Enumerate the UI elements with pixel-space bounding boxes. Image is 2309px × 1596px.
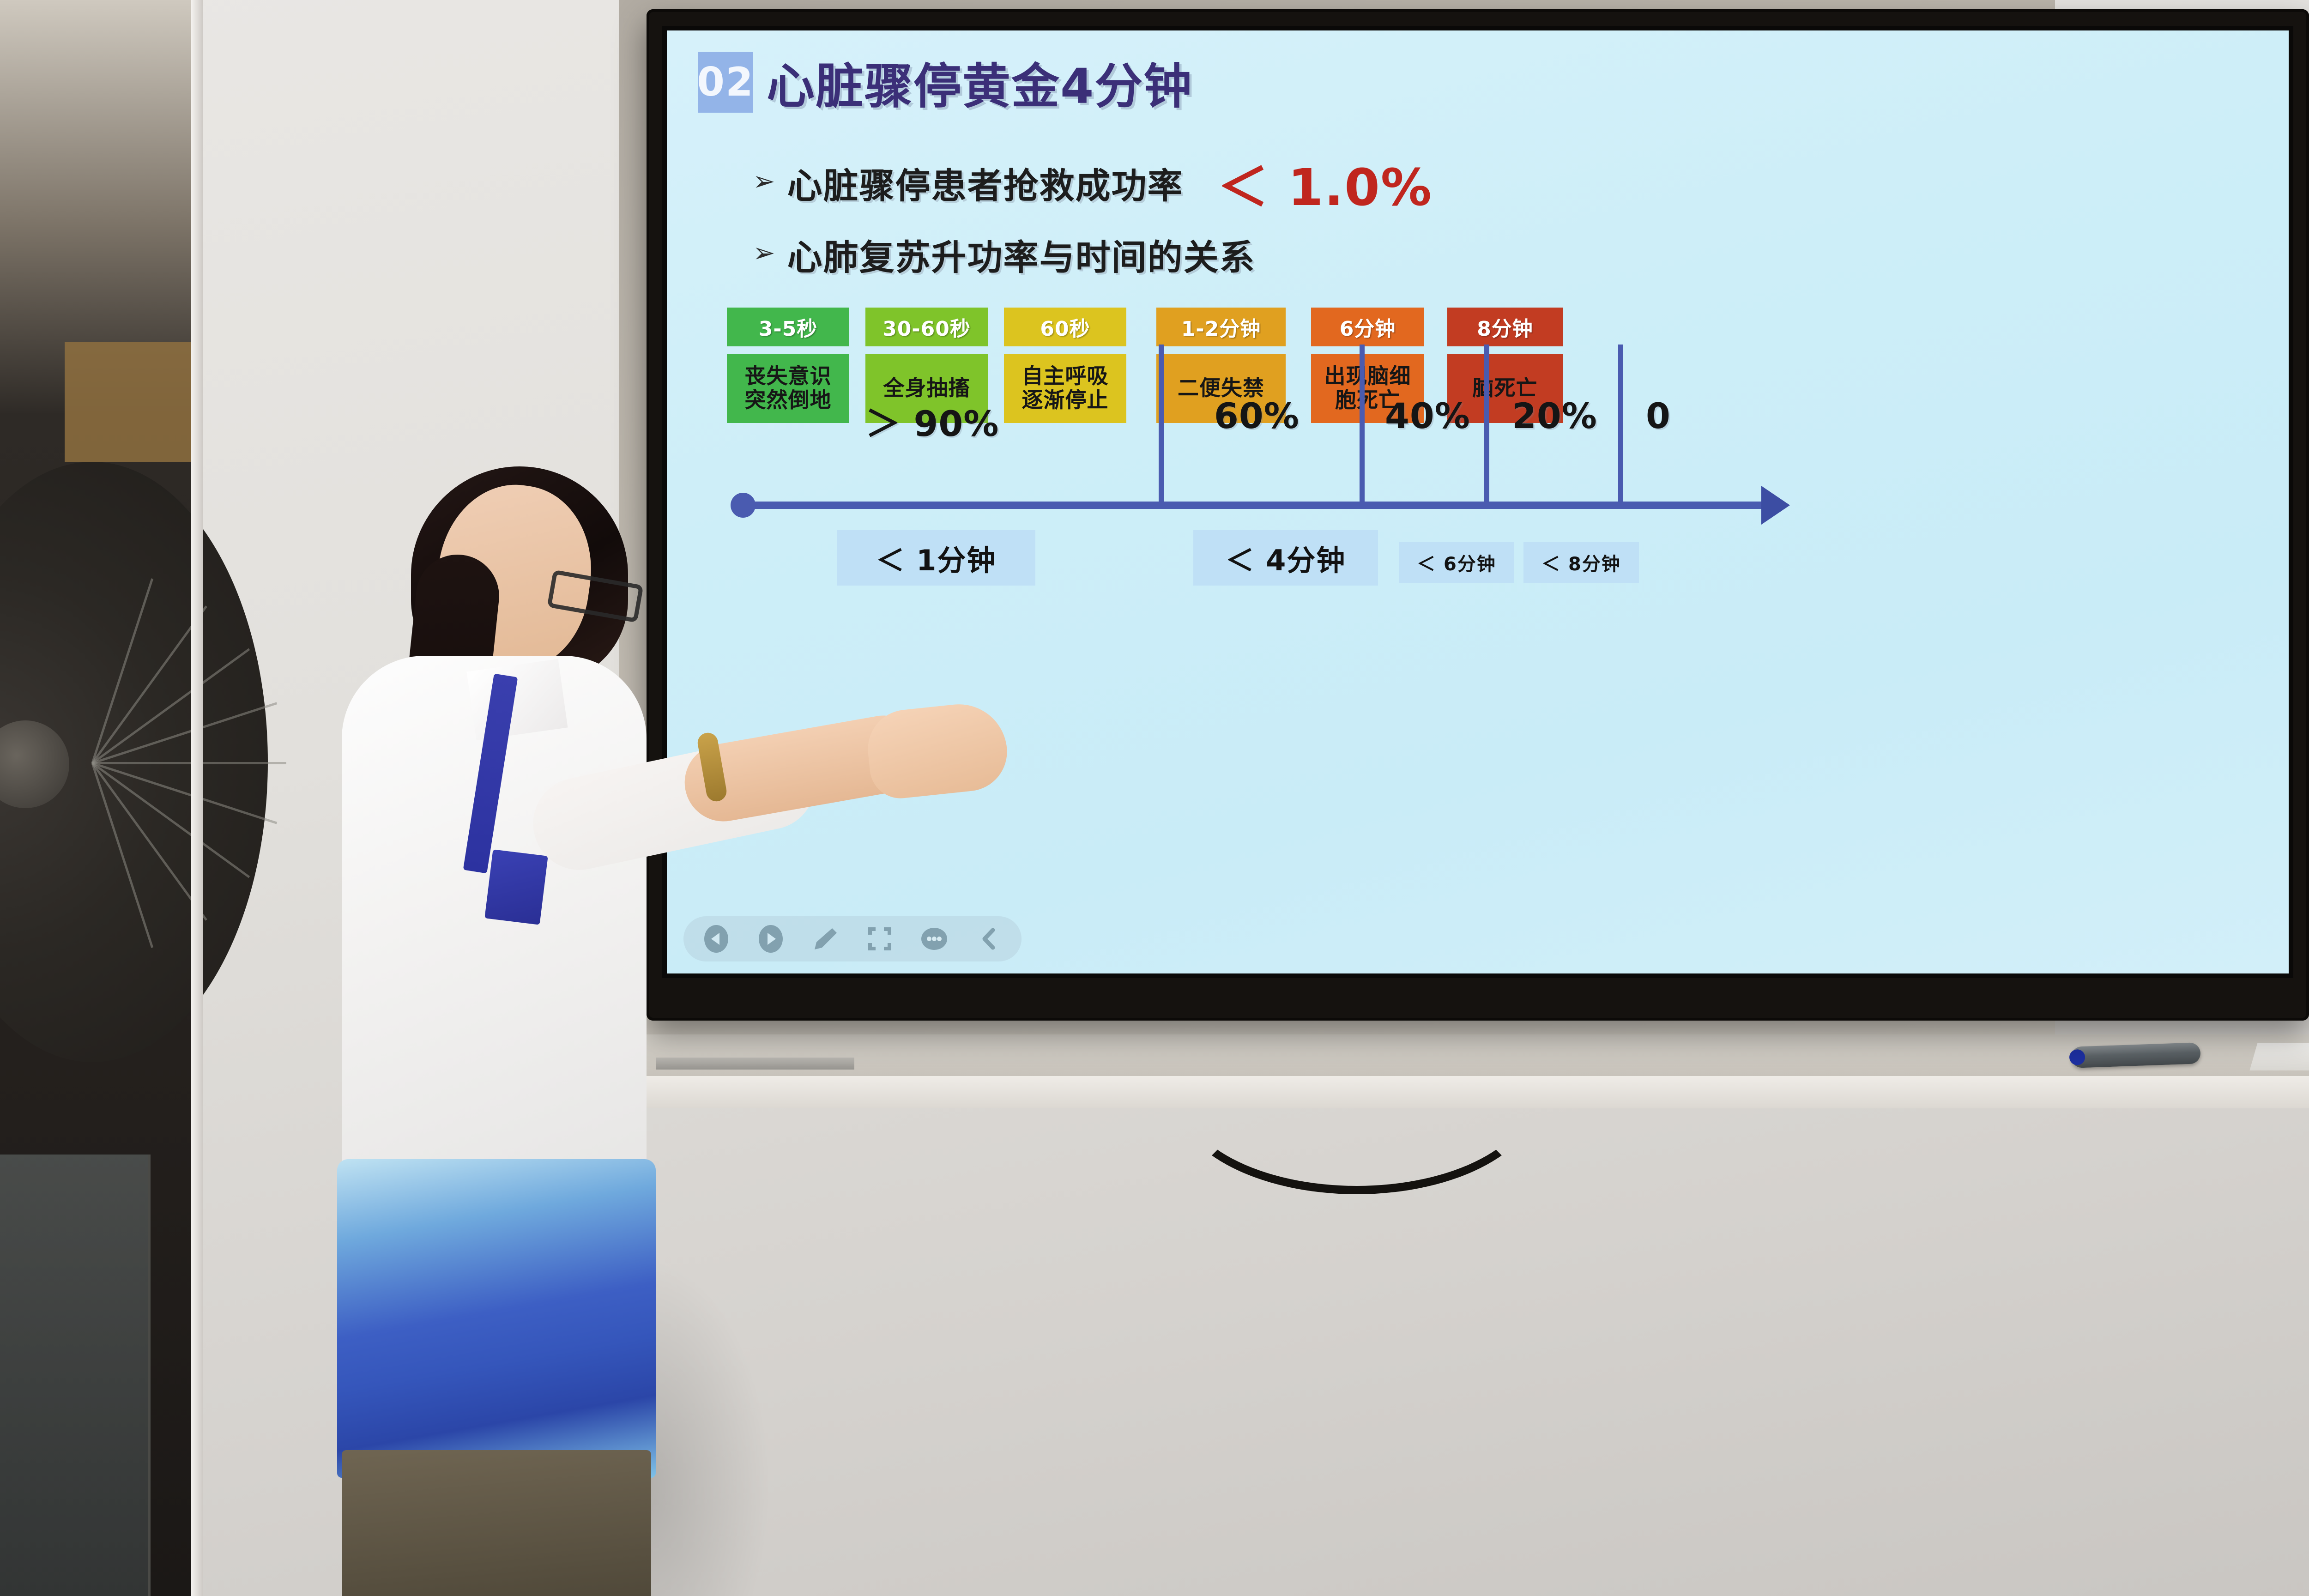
eraser[interactable] bbox=[2249, 1043, 2309, 1070]
collapse-toolbar-chevron-left-icon[interactable] bbox=[972, 922, 1006, 956]
bullet-item-1: ➢ 心脏骤停患者抢救成功率 ＜ 1.0% bbox=[753, 146, 1433, 220]
glass-partition bbox=[0, 1155, 151, 1596]
time-window-label-2: ＜ 4分钟 bbox=[1193, 530, 1378, 586]
stage-time-label: 6分钟 bbox=[1311, 308, 1424, 346]
stage-time-label: 1-2分钟 bbox=[1156, 308, 1286, 346]
axis-tick-4 bbox=[1618, 345, 1623, 504]
bullet-marker-icon: ➢ bbox=[753, 239, 775, 266]
stage-symptom-label: 自主呼吸逐渐停止 bbox=[1004, 354, 1126, 423]
survival-rate-value-2: 60% bbox=[1214, 395, 1300, 436]
bullet-item-2: ➢ 心肺复苏升功率与时间的关系 bbox=[753, 229, 1256, 280]
pen-annotate-icon[interactable] bbox=[808, 922, 842, 956]
presenter-collar bbox=[467, 659, 568, 740]
axis-tick-1 bbox=[1159, 345, 1164, 504]
stage-time-label: 60秒 bbox=[1004, 308, 1126, 346]
bullet-marker-icon: ➢ bbox=[753, 168, 775, 194]
presenter bbox=[272, 471, 790, 1596]
axis-tick-3 bbox=[1484, 345, 1489, 504]
section-number-badge: 02 bbox=[698, 52, 753, 113]
stage-time-label: 3-5秒 bbox=[727, 308, 849, 346]
survival-rate-value-5: 0 bbox=[1646, 395, 1671, 436]
presentation-slide: 02 心脏骤停黄金4分钟 ➢ 心脏骤停患者抢救成功率 ＜ 1.0% ➢ 心肺复苏… bbox=[667, 30, 2289, 973]
wall-corner-edge bbox=[191, 0, 203, 1596]
stage-time-label: 30-60秒 bbox=[865, 308, 988, 346]
stage-column-1: 3-5秒丧失意识突然倒地 bbox=[727, 308, 849, 423]
stage-column-3: 60秒自主呼吸逐渐停止 bbox=[1004, 308, 1126, 423]
axis-tick-2 bbox=[1360, 345, 1365, 504]
display-screen[interactable]: 02 心脏骤停黄金4分钟 ➢ 心脏骤停患者抢救成功率 ＜ 1.0% ➢ 心肺复苏… bbox=[667, 30, 2289, 973]
presenter-skirt bbox=[337, 1159, 656, 1478]
survival-rate-value-1: ＞ 90% bbox=[865, 395, 999, 446]
time-window-label-4: ＜ 8分钟 bbox=[1523, 542, 1639, 583]
page-title: 心脏骤停黄金4分钟 bbox=[767, 47, 1192, 117]
survival-rate-highlight: ＜ 1.0% bbox=[1218, 146, 1433, 220]
presenter-lower-skirt bbox=[342, 1450, 651, 1596]
slide-header: 02 心脏骤停黄金4分钟 bbox=[698, 47, 1192, 117]
survival-rate-value-3: 40% bbox=[1385, 395, 1470, 436]
bullet-text-2: 心肺复苏升功率与时间的关系 bbox=[787, 229, 1256, 280]
fit-screen-icon[interactable] bbox=[863, 922, 897, 956]
timeline-axis-line bbox=[740, 502, 1771, 509]
wooden-panel bbox=[65, 342, 203, 462]
interactive-display[interactable]: 02 心脏骤停黄金4分钟 ➢ 心脏骤停患者抢救成功率 ＜ 1.0% ➢ 心肺复苏… bbox=[647, 9, 2309, 1021]
classroom-scene: 02 心脏骤停黄金4分钟 ➢ 心脏骤停患者抢救成功率 ＜ 1.0% ➢ 心肺复苏… bbox=[0, 0, 2309, 1596]
time-window-label-1: ＜ 1分钟 bbox=[837, 530, 1035, 586]
stage-symptom-label: 丧失意识突然倒地 bbox=[727, 354, 849, 423]
bullet-text-1: 心脏骤停患者抢救成功率 bbox=[787, 157, 1184, 208]
stylus-pen[interactable] bbox=[2071, 1042, 2200, 1068]
presenter-id-badge bbox=[484, 849, 548, 925]
stage-time-label: 8分钟 bbox=[1447, 308, 1563, 346]
power-cable bbox=[1173, 993, 1541, 1194]
time-window-label-3: ＜ 6分钟 bbox=[1399, 542, 1514, 583]
timeline-arrow-head bbox=[1761, 486, 1790, 525]
more-options-icon[interactable] bbox=[917, 922, 951, 956]
survival-rate-value-4: 20% bbox=[1512, 395, 1597, 436]
